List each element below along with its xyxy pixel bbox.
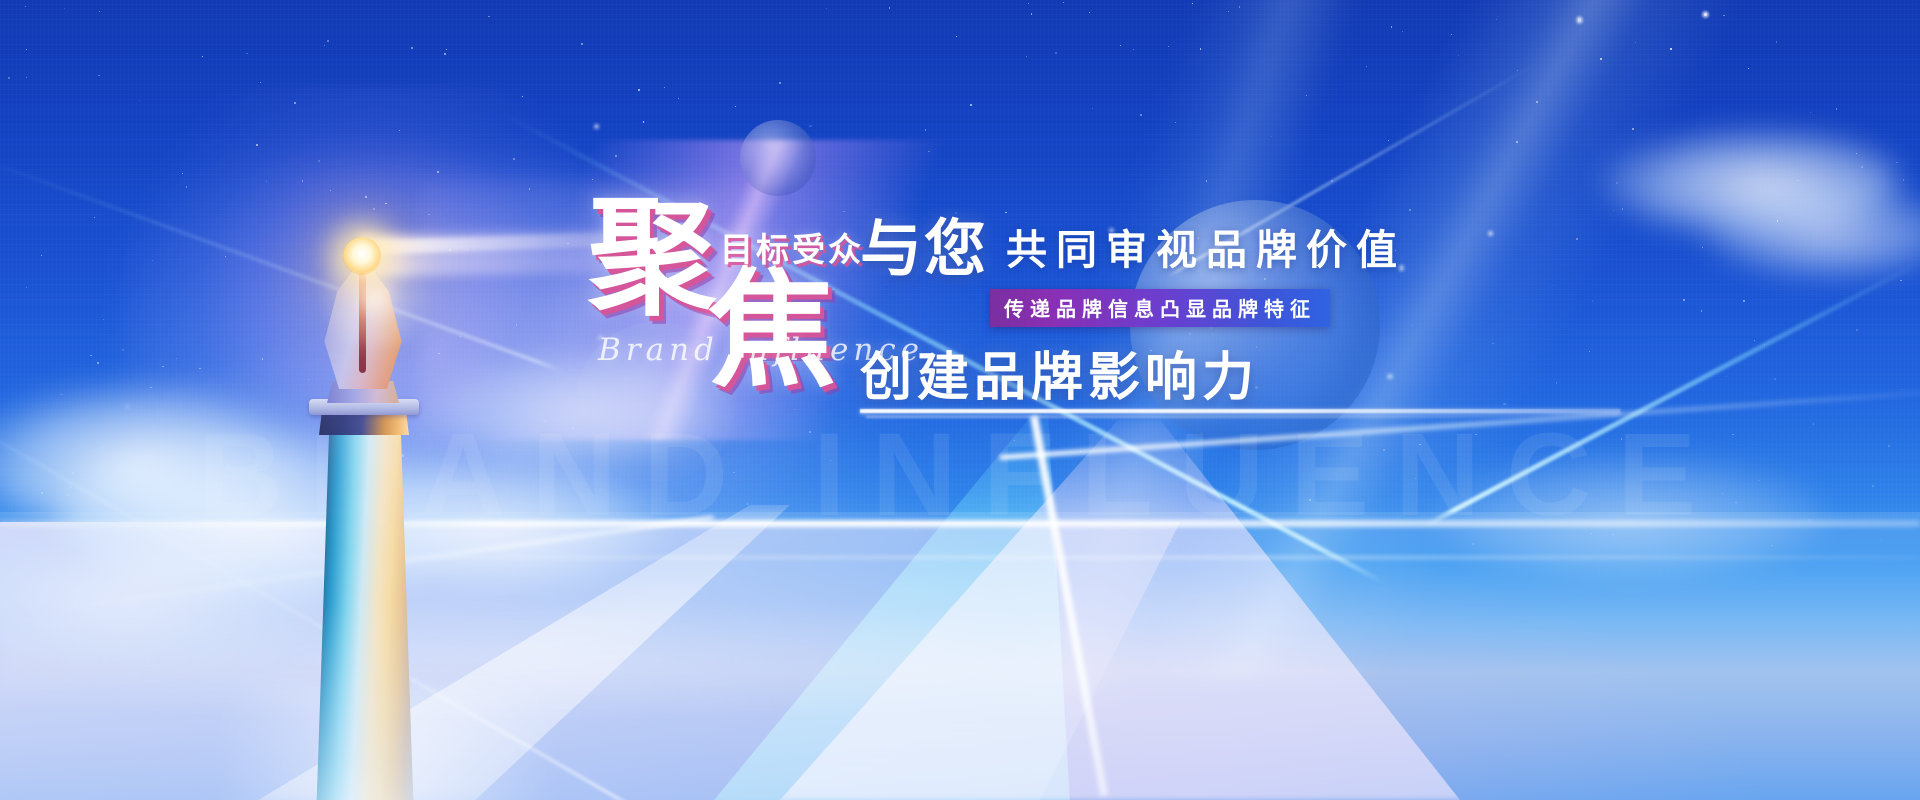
sea-wave [0,600,1920,720]
headline-underline-soft [866,416,1596,418]
light-ray-icon [0,150,562,372]
nib-slit [359,265,366,373]
pen-nib [317,257,409,389]
light-ray-icon [0,405,651,800]
headline-char-jiao: 焦 [708,267,836,395]
ribbon-badge: 传递品牌信息凸显品牌特征 [990,289,1330,327]
tower-base [271,775,461,800]
nib-neck [327,381,399,403]
brand-banner: BRAND INFLUENCE 聚 焦 目 [0,0,1920,800]
tower-collar [319,413,409,435]
tower-base-glow [225,685,545,800]
focus-wordmark: 聚 焦 [580,185,880,405]
right-copy-block: 与您共同审视品牌价值 传递品牌信息凸显品牌特征 创建品牌影响力 [860,213,1900,287]
pen-nib-lighthouse-icon [255,215,495,800]
headline-right: 共同审视品牌价值 [1006,213,1406,287]
audience-tag: 目标受众 [720,223,864,271]
cloud-icon [0,380,320,530]
headline-char-ju: 聚 [588,195,716,323]
cloud-icon [60,430,490,600]
tower-body [315,434,415,800]
cloud-icon [0,520,340,670]
lead-phrase: 与您 [860,213,988,287]
headline-underline [860,409,1620,413]
subheadline: 创建品牌影响力 [860,335,1259,410]
lamp-halo [105,85,645,545]
lamp-glow-icon [343,237,381,275]
headline-block: 聚 焦 目标受众 Brand influence 与您共同审视品牌价值 传递品牌… [580,185,1900,605]
tower-highlight [315,434,415,800]
headline-line-1: 与您共同审视品牌价值 [860,213,1900,287]
tower-gallery [309,399,419,415]
